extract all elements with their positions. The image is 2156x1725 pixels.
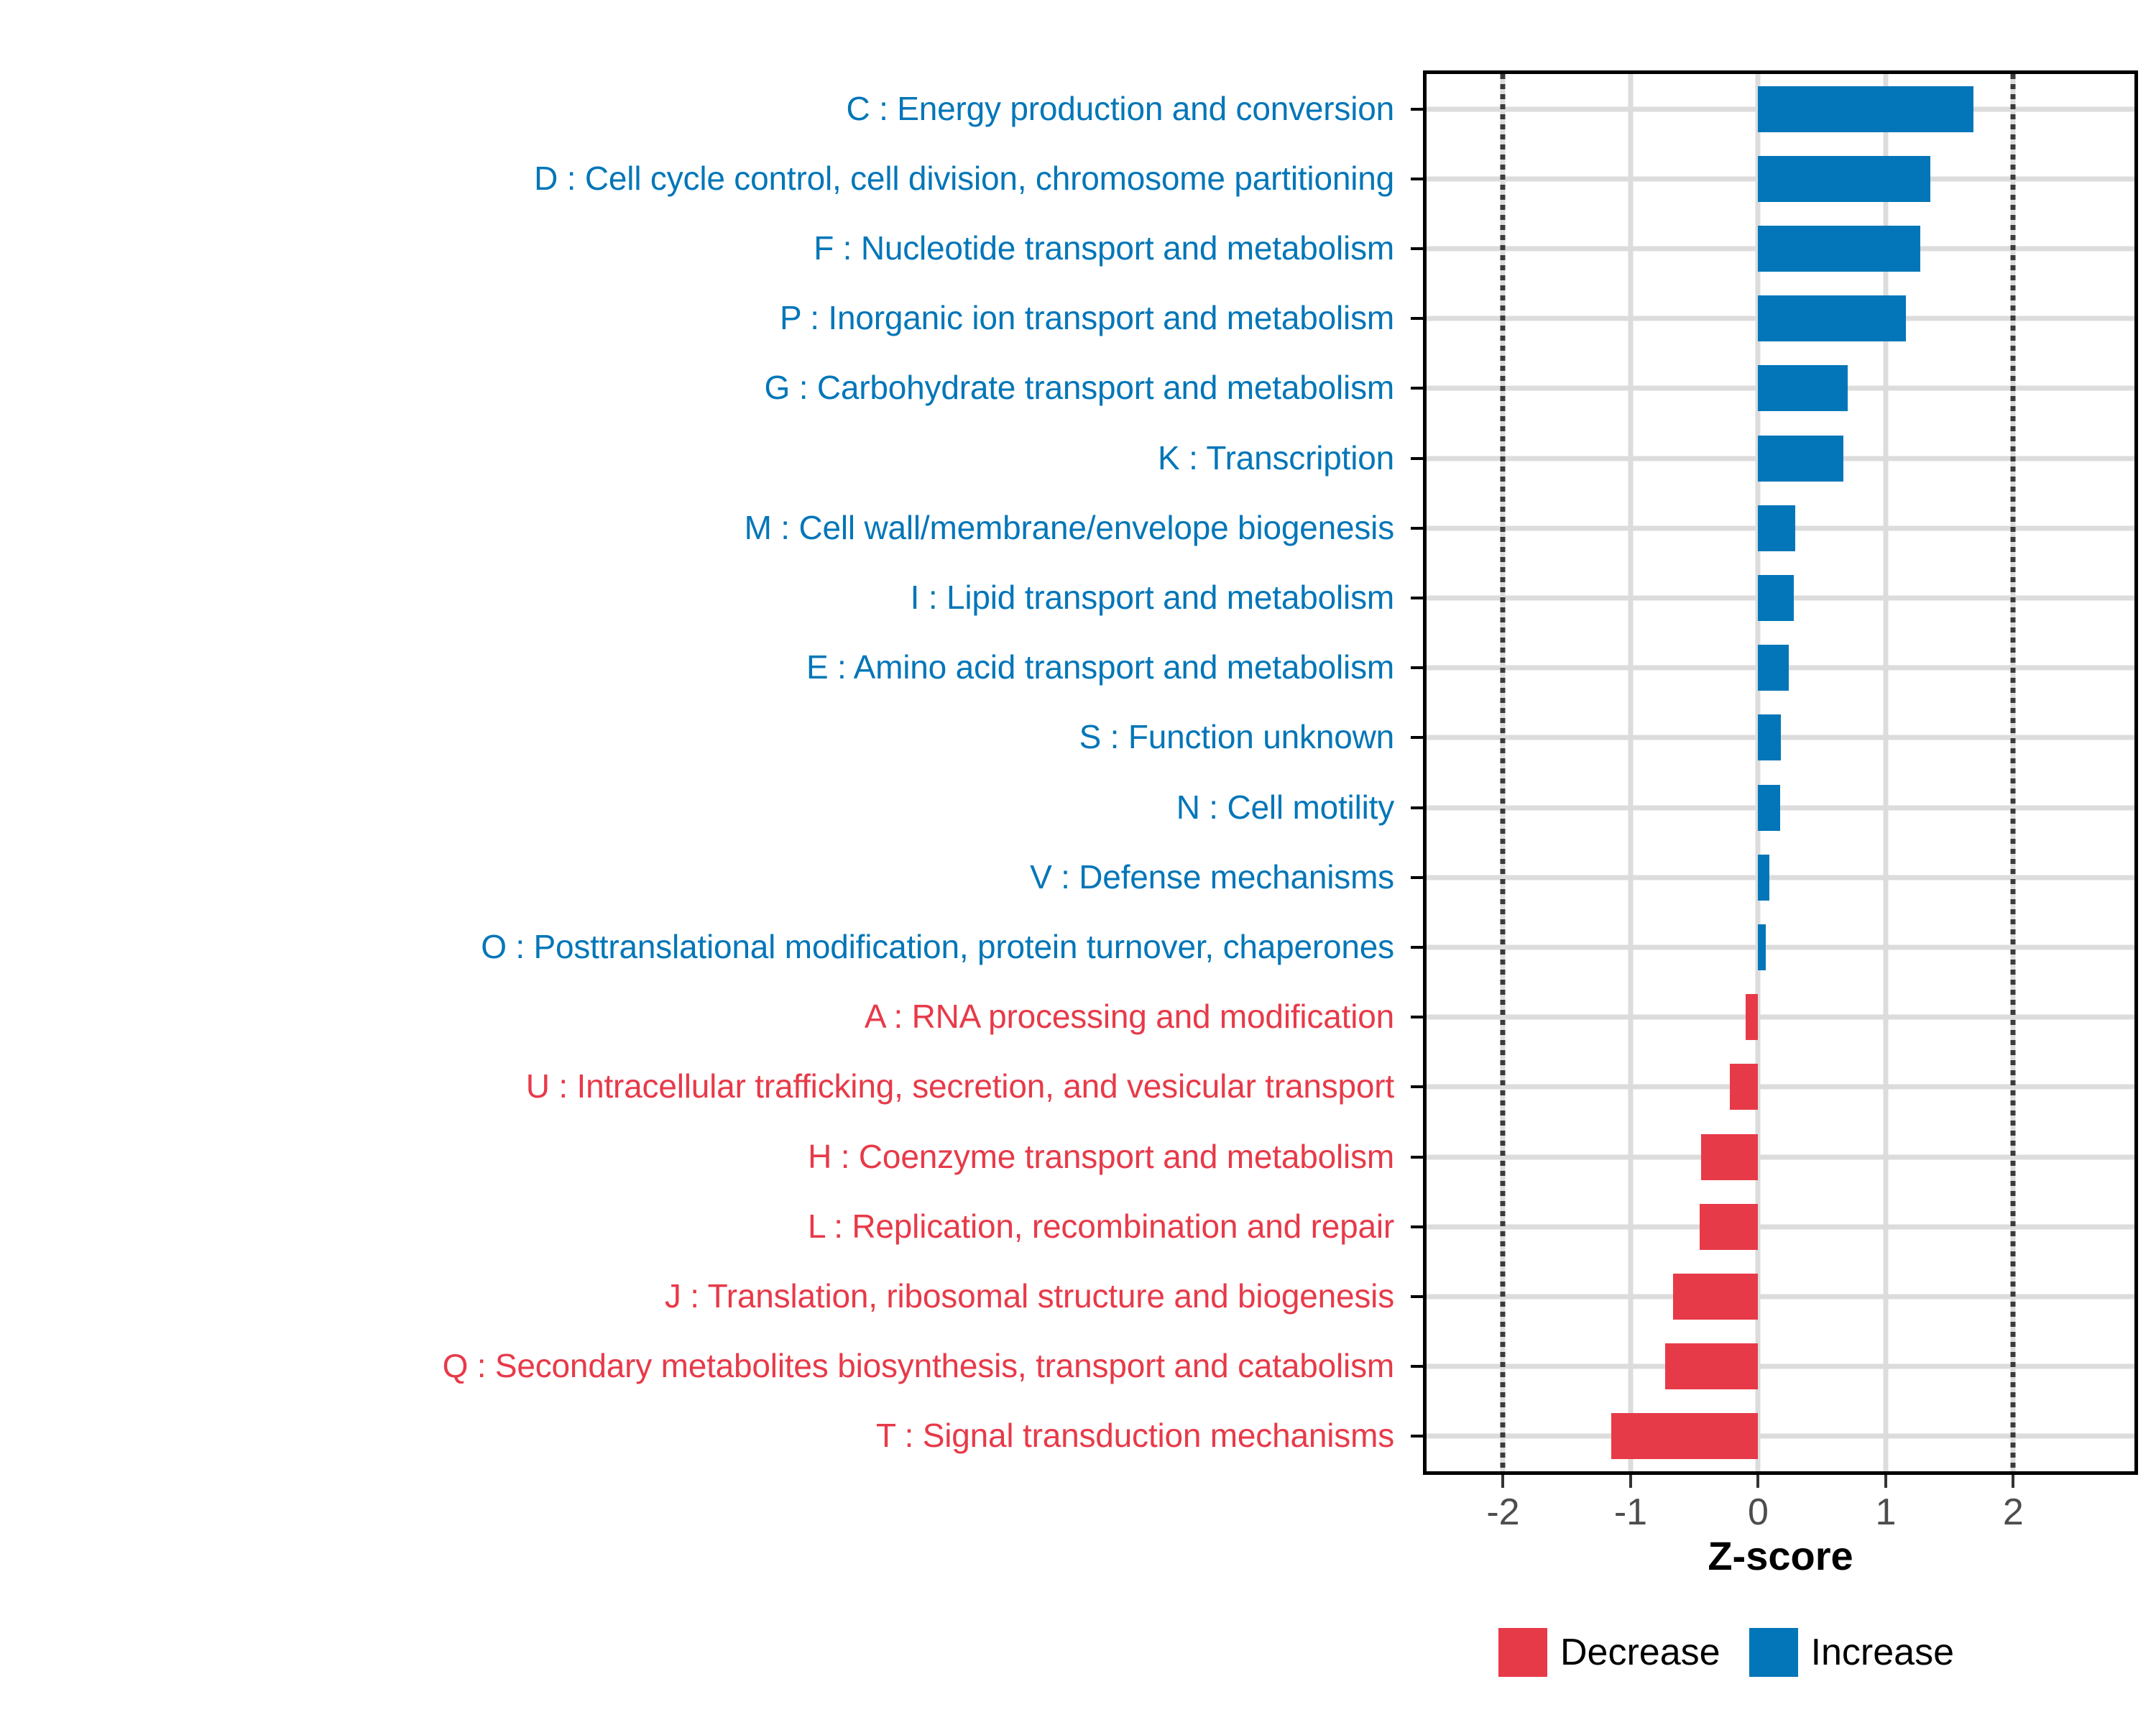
bar xyxy=(1758,436,1843,482)
gridline-horizontal xyxy=(1427,805,2134,810)
bar xyxy=(1701,1134,1759,1180)
bar xyxy=(1758,645,1789,691)
y-axis-tick xyxy=(1411,1365,1423,1368)
y-axis-tick xyxy=(1411,457,1423,460)
y-axis-label: I : Lipid transport and metabolism xyxy=(911,581,1394,614)
x-axis-tick xyxy=(2012,1475,2014,1488)
gridline-horizontal xyxy=(1427,1294,2134,1299)
y-axis-label: S : Function unknown xyxy=(1079,720,1394,753)
gridline-vertical xyxy=(1628,74,1633,1471)
y-axis-label: V : Defense mechanisms xyxy=(1030,860,1394,893)
y-axis-tick xyxy=(1411,527,1423,530)
y-axis-label: U : Intracellular trafficking, secretion… xyxy=(526,1069,1394,1103)
y-axis-tick xyxy=(1411,1295,1423,1298)
legend-swatch-icon xyxy=(1498,1628,1547,1677)
x-axis-tick xyxy=(1629,1475,1632,1488)
gridline-vertical xyxy=(1883,74,1888,1471)
gridline-horizontal xyxy=(1427,1364,2134,1369)
x-axis-tick-label: -2 xyxy=(1486,1492,1519,1532)
bar xyxy=(1700,1204,1759,1250)
legend-label: Decrease xyxy=(1560,1634,1720,1671)
y-axis-tick xyxy=(1411,946,1423,949)
bar xyxy=(1758,295,1906,341)
plot-panel xyxy=(1423,70,2138,1475)
y-axis-label: D : Cell cycle control, cell division, c… xyxy=(534,162,1394,195)
reference-line xyxy=(1501,74,1506,1471)
y-axis-tick xyxy=(1411,1085,1423,1088)
bar xyxy=(1758,86,1973,132)
y-axis-label: T : Signal transduction mechanisms xyxy=(876,1419,1394,1452)
x-axis-tick-label: -1 xyxy=(1614,1492,1647,1532)
legend-item[interactable]: Decrease xyxy=(1498,1628,1720,1677)
x-axis-tick-label: 0 xyxy=(1748,1492,1769,1532)
y-axis-tick xyxy=(1411,178,1423,180)
gridline-horizontal xyxy=(1427,1015,2134,1020)
gridline-horizontal xyxy=(1427,945,2134,950)
y-axis-label: Q : Secondary metabolites biosynthesis, … xyxy=(443,1349,1394,1382)
bar xyxy=(1758,505,1795,551)
y-axis-label: P : Inorganic ion transport and metaboli… xyxy=(780,301,1394,334)
legend-label: Increase xyxy=(1811,1634,1954,1671)
gridline-horizontal xyxy=(1427,875,2134,880)
bar xyxy=(1758,785,1779,831)
y-axis-label: J : Translation, ribosomal structure and… xyxy=(665,1279,1394,1312)
y-axis-label: A : RNA processing and modification xyxy=(865,1000,1394,1033)
x-axis-tick xyxy=(1501,1475,1504,1488)
y-axis-label: N : Cell motility xyxy=(1176,791,1394,824)
legend-item[interactable]: Increase xyxy=(1749,1628,1954,1677)
bar xyxy=(1746,994,1759,1040)
y-axis-label: O : Posttranslational modification, prot… xyxy=(481,930,1394,963)
gridline-horizontal xyxy=(1427,1434,2134,1439)
y-axis-label: H : Coenzyme transport and metabolism xyxy=(808,1140,1394,1173)
gridline-horizontal xyxy=(1427,1154,2134,1159)
y-axis-tick xyxy=(1411,806,1423,809)
y-axis-tick xyxy=(1411,876,1423,879)
bar xyxy=(1758,855,1769,901)
y-axis-category-labels: C : Energy production and conversionD : … xyxy=(0,70,1394,1475)
y-axis-tick xyxy=(1411,1435,1423,1437)
y-axis-tick xyxy=(1411,597,1423,599)
x-axis-title: Z-score xyxy=(1423,1532,2138,1579)
bar xyxy=(1758,924,1766,970)
bar xyxy=(1673,1274,1759,1320)
x-axis-tick xyxy=(1756,1475,1759,1488)
gridline-vertical xyxy=(1756,74,1761,1471)
y-axis-label: G : Carbohydrate transport and metabolis… xyxy=(765,371,1394,404)
bar xyxy=(1758,714,1781,760)
y-axis-label: F : Nucleotide transport and metabolism xyxy=(814,231,1394,264)
cog-zscore-bar-chart: C : Energy production and conversionD : … xyxy=(0,0,2156,1725)
bar xyxy=(1665,1343,1759,1389)
y-axis-tick xyxy=(1411,387,1423,390)
y-axis-tick xyxy=(1411,666,1423,669)
gridline-horizontal xyxy=(1427,1085,2134,1090)
y-axis-tick xyxy=(1411,247,1423,250)
y-axis-tick xyxy=(1411,736,1423,739)
y-axis-label: E : Amino acid transport and metabolism xyxy=(806,650,1394,684)
gridline-horizontal xyxy=(1427,1224,2134,1229)
x-axis-tick-label: 2 xyxy=(2003,1492,2024,1532)
y-axis-label: L : Replication, recombination and repai… xyxy=(808,1210,1394,1243)
bar xyxy=(1758,365,1847,411)
legend-swatch-icon xyxy=(1749,1628,1798,1677)
y-axis-tick xyxy=(1411,1156,1423,1159)
y-axis-tick xyxy=(1411,108,1423,111)
bar xyxy=(1758,575,1794,621)
bar xyxy=(1758,226,1920,272)
y-axis-tick xyxy=(1411,1016,1423,1018)
y-axis-tick xyxy=(1411,317,1423,320)
y-axis-label: K : Transcription xyxy=(1158,441,1394,474)
bar xyxy=(1730,1064,1758,1110)
y-axis-tick xyxy=(1411,1225,1423,1228)
x-axis-tick-label: 1 xyxy=(1875,1492,1896,1532)
bar xyxy=(1611,1413,1758,1459)
x-axis-tick xyxy=(1884,1475,1887,1488)
y-axis-label: M : Cell wall/membrane/envelope biogenes… xyxy=(745,511,1394,544)
reference-line xyxy=(2011,74,2016,1471)
y-axis-label: C : Energy production and conversion xyxy=(847,92,1394,125)
legend: DecreaseIncrease xyxy=(1498,1628,1954,1677)
bar xyxy=(1758,156,1930,202)
